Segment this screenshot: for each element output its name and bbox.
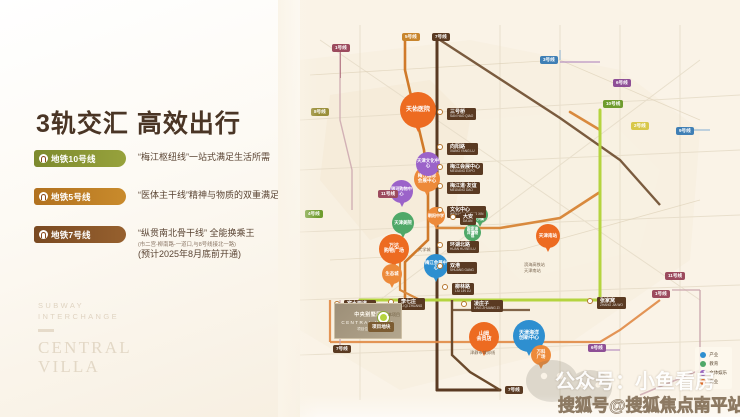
metro-line-tag[interactable]: 6号线: [613, 79, 631, 87]
metro-line-badge-label: 地铁10号线: [51, 153, 96, 165]
metro-line-tag[interactable]: 2号线: [631, 122, 649, 130]
metro-line-tag-stem: [340, 52, 341, 78]
property-callout-box[interactable]: 中央别墅区 CENTRAL VILLA 项目位置示意: [334, 303, 402, 339]
poi-bubble[interactable]: 天津美院: [392, 212, 414, 234]
metro-icon: [39, 154, 48, 163]
poi-bubble[interactable]: 国家海洋博物馆: [464, 224, 481, 241]
brand-name-line2: VILLA: [38, 357, 132, 376]
poi-bubble[interactable]: 万达 购物广场: [379, 234, 409, 264]
poi-bubble[interactable]: 生态城: [382, 264, 402, 284]
brand-name-line1: CENTRAL: [38, 338, 132, 357]
metro-line-tag[interactable]: 10号线: [603, 100, 623, 108]
station-dot[interactable]: [461, 301, 467, 307]
station-label-en: HUAN HU BEI LU: [450, 248, 476, 252]
station-label[interactable]: 张家窝ZHANG JIA WO: [597, 297, 626, 309]
brand-lockup: SUBWAY INTERCHANGE CENTRAL VILLA: [38, 300, 132, 376]
station-label[interactable]: 三号桥SAN HAO QIAO: [447, 108, 476, 120]
station-label-en: SAN HAO QIAO: [450, 115, 473, 119]
metro-line-tag[interactable]: 1号线: [332, 44, 350, 52]
station-label[interactable]: 梅江道·友谊MEIJIANG DAO: [447, 182, 480, 194]
feature-description: “梅江枢纽线”一站式满足生活所需: [138, 151, 270, 164]
station-label[interactable]: 梅江会展中心MEIJIANG EXPO: [447, 163, 483, 175]
watermark-sohu: 搜狐号@搜狐焦点南平站: [558, 391, 740, 416]
page-title: 3轨交汇 高效出行: [36, 104, 241, 140]
brand-divider: [38, 329, 54, 332]
station-label-en: LI QI ZHUANG: [401, 305, 422, 309]
station-label[interactable]: 李七庄LI QI ZHUANG: [398, 298, 425, 310]
station-label[interactable]: 向阳路XIANG YANG LU: [447, 143, 478, 155]
station-label[interactable]: 柳林路LIU LIN LU: [452, 283, 474, 295]
station-dot[interactable]: [437, 109, 443, 115]
metro-line-tag[interactable]: 3号线: [540, 56, 558, 64]
station-label-en: ZHANG JIA WO: [600, 304, 623, 308]
station-label-en: DA AN: [463, 220, 473, 224]
feature-opening-note: (预计2025年8月底前开通): [138, 247, 241, 260]
station-label[interactable]: 双港SHUANG GANG: [447, 262, 477, 274]
station-label-en: MEIJIANG EXPO: [450, 170, 480, 174]
map-annotation: 大学城: [418, 247, 431, 253]
station-dot[interactable]: [450, 214, 456, 220]
left-info-panel: 3轨交汇 高效出行 地铁10号线“梅江枢纽线”一站式满足生活所需地铁5号线“医体…: [0, 0, 300, 417]
station-dot[interactable]: [437, 242, 443, 248]
metro-line-badge[interactable]: 地铁7号线: [34, 226, 126, 243]
brand-subtitle-line1: SUBWAY: [38, 300, 132, 311]
station-label-en: LING ZHUANG ZI: [474, 307, 500, 311]
station-label[interactable]: 凌庄子LING ZHUANG ZI: [471, 300, 503, 312]
metro-line-tag[interactable]: 7号线: [432, 33, 450, 41]
page-root: 1号线5号线7号线3号线6号线10号线9号线2号线11号线4号线8号线11号线1…: [0, 0, 740, 417]
metro-line-tag[interactable]: 11号线: [665, 272, 685, 280]
brand-subtitle-line2: INTERCHANGE: [38, 311, 132, 322]
metro-line-tag[interactable]: 6号线: [588, 344, 606, 352]
poi-bubble[interactable]: 天佑医院: [400, 92, 436, 128]
metro-line-tag[interactable]: 11号线: [378, 190, 398, 198]
station-label[interactable]: 大安DA AN: [460, 213, 476, 225]
station-dot[interactable]: [437, 207, 443, 213]
poi-bubble[interactable]: 天津南站: [536, 224, 560, 248]
property-site-pin[interactable]: 项目地块: [368, 322, 394, 332]
feature-description: “纵贯南北骨干线” 全能换乘王: [138, 227, 255, 240]
station-dot[interactable]: [437, 263, 443, 269]
metro-line-tag[interactable]: 5号线: [402, 33, 420, 41]
station-label-en: XIANG YANG LU: [450, 150, 475, 154]
station-dot[interactable]: [437, 144, 443, 150]
feature-row: 地铁10号线“梅江枢纽线”一站式满足生活所需: [34, 150, 284, 183]
station-dot[interactable]: [437, 164, 443, 170]
map-annotation: 津静市域郊线: [470, 350, 495, 356]
station-label[interactable]: 环湖北路HUAN HU BEI LU: [447, 241, 479, 253]
legend-row: 产业: [700, 350, 727, 359]
station-dot[interactable]: [442, 284, 448, 290]
poi-bubble[interactable]: 梅江会展中心: [424, 254, 448, 278]
metro-line-tag[interactable]: 1号线: [652, 290, 670, 298]
legend-color-dot: [700, 352, 706, 358]
station-dot[interactable]: [587, 298, 593, 304]
feature-list: 地铁10号线“梅江枢纽线”一站式满足生活所需地铁5号线“医体主干线”精神与物质的…: [34, 150, 284, 264]
station-label-en: MEIJIANG DAO: [450, 189, 477, 193]
map-annotation: 天津南站: [524, 268, 541, 274]
watermark-public-account: 公众号：小鱼看房: [555, 365, 715, 394]
metro-line-tag[interactable]: 9号线: [676, 127, 694, 135]
metro-line-badge[interactable]: 地铁10号线: [34, 150, 126, 167]
station-label-en: SHUANG GANG: [450, 269, 474, 273]
metro-icon: [39, 230, 48, 239]
metro-line-badge-label: 地铁5号线: [51, 191, 91, 203]
metro-line-tag[interactable]: 7号线: [333, 345, 351, 353]
metro-line-badge-label: 地铁7号线: [51, 229, 91, 241]
metro-icon: [39, 192, 48, 201]
feature-description: “医体主干线”精神与物质的双重满足: [138, 189, 279, 202]
feature-row: 地铁5号线“医体主干线”精神与物质的双重满足: [34, 188, 284, 221]
station-label-en: LIU LIN LU: [455, 290, 471, 294]
poi-bubble[interactable]: 山姆 会员店: [469, 322, 499, 352]
property-marker-label: 本项目: [388, 312, 400, 318]
legend-label: 产业: [709, 352, 718, 358]
poi-bubble[interactable]: 天津文化中心: [416, 152, 440, 176]
station-dot[interactable]: [437, 183, 443, 189]
property-site-pin-label: 项目地块: [372, 324, 390, 329]
metro-line-badge[interactable]: 地铁5号线: [34, 188, 126, 205]
feature-row: 地铁7号线“纵贯南北骨干线” 全能换乘王(市二宫-柳南路-一道口,与8号线接北一…: [34, 226, 284, 259]
